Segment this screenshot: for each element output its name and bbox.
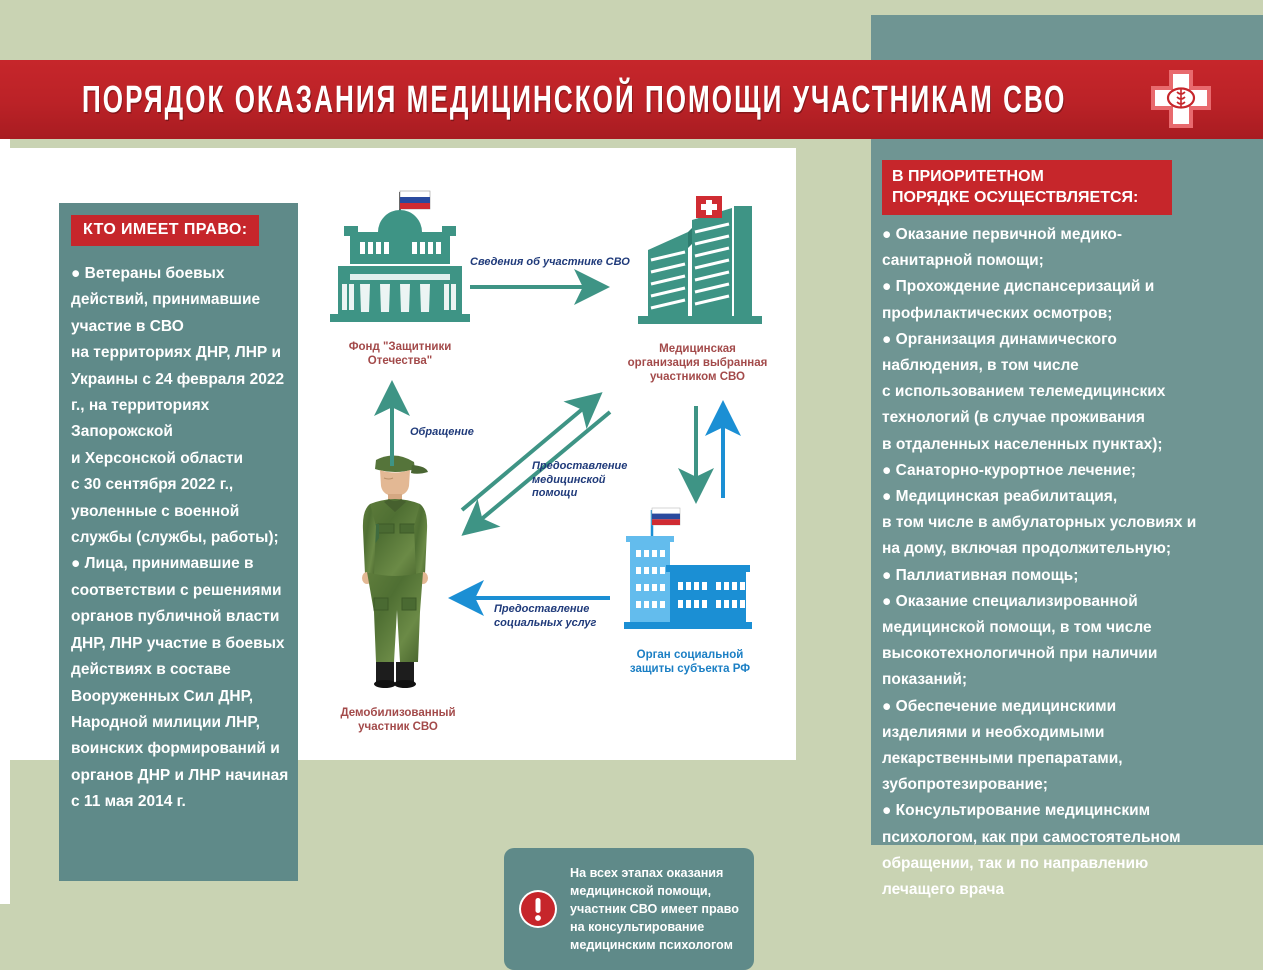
priority-list: ● Оказание первичной медико-санитарной п… [882,222,1200,903]
list-item: ● Обеспечение медицинскими изделиями и н… [882,694,1200,799]
psychologist-note-text: На всех этапах оказания медицинской помо… [570,864,744,954]
process-diagram: Фонд "Защитники Отечества" [10,148,796,760]
list-item: ● Оказание специализированной медицинско… [882,589,1200,694]
page-header: ПОРЯДОК ОКАЗАНИЯ МЕДИЦИНСКОЙ ПОМОЩИ УЧАС… [0,60,1263,139]
list-item: ● Оказание первичной медико-санитарной п… [882,222,1200,274]
diagram-arrows [10,148,796,760]
arrow-label-info: Сведения об участнике СВО [470,256,650,270]
arrow-label-social-services: Предоставление социальных услуг [494,603,624,630]
list-item: ● Паллиативная помощь; [882,563,1200,589]
infographic-page: ПОРЯДОК ОКАЗАНИЯ МЕДИЦИНСКОЙ ПОМОЩИ УЧАС… [0,0,1263,904]
psychologist-note: На всех этапах оказания медицинской помо… [504,848,754,970]
list-item: ● Организация динамического наблюдения, … [882,327,1200,458]
list-item: ● Консультирование медицинским психолого… [882,798,1200,903]
list-item: ● Медицинская реабилитация, в том числе … [882,484,1200,563]
arrow-label-med-help: Предоставление медицинской помощи [532,460,662,501]
exclamation-circle-icon [518,889,558,929]
medical-cross-logo [1145,68,1217,132]
list-item: ● Прохождение диспансеризаций и профилак… [882,274,1200,326]
page-title: ПОРЯДОК ОКАЗАНИЯ МЕДИЦИНСКОЙ ПОМОЩИ УЧАС… [82,78,1066,121]
left-white-strip [0,139,10,904]
arrow-label-appeal: Обращение [410,426,530,440]
priority-title: В ПРИОРИТЕТНОМ ПОРЯДКЕ ОСУЩЕСТВЛЯЕТСЯ: [882,160,1172,215]
list-item: ● Санаторно-курортное лечение; [882,458,1200,484]
